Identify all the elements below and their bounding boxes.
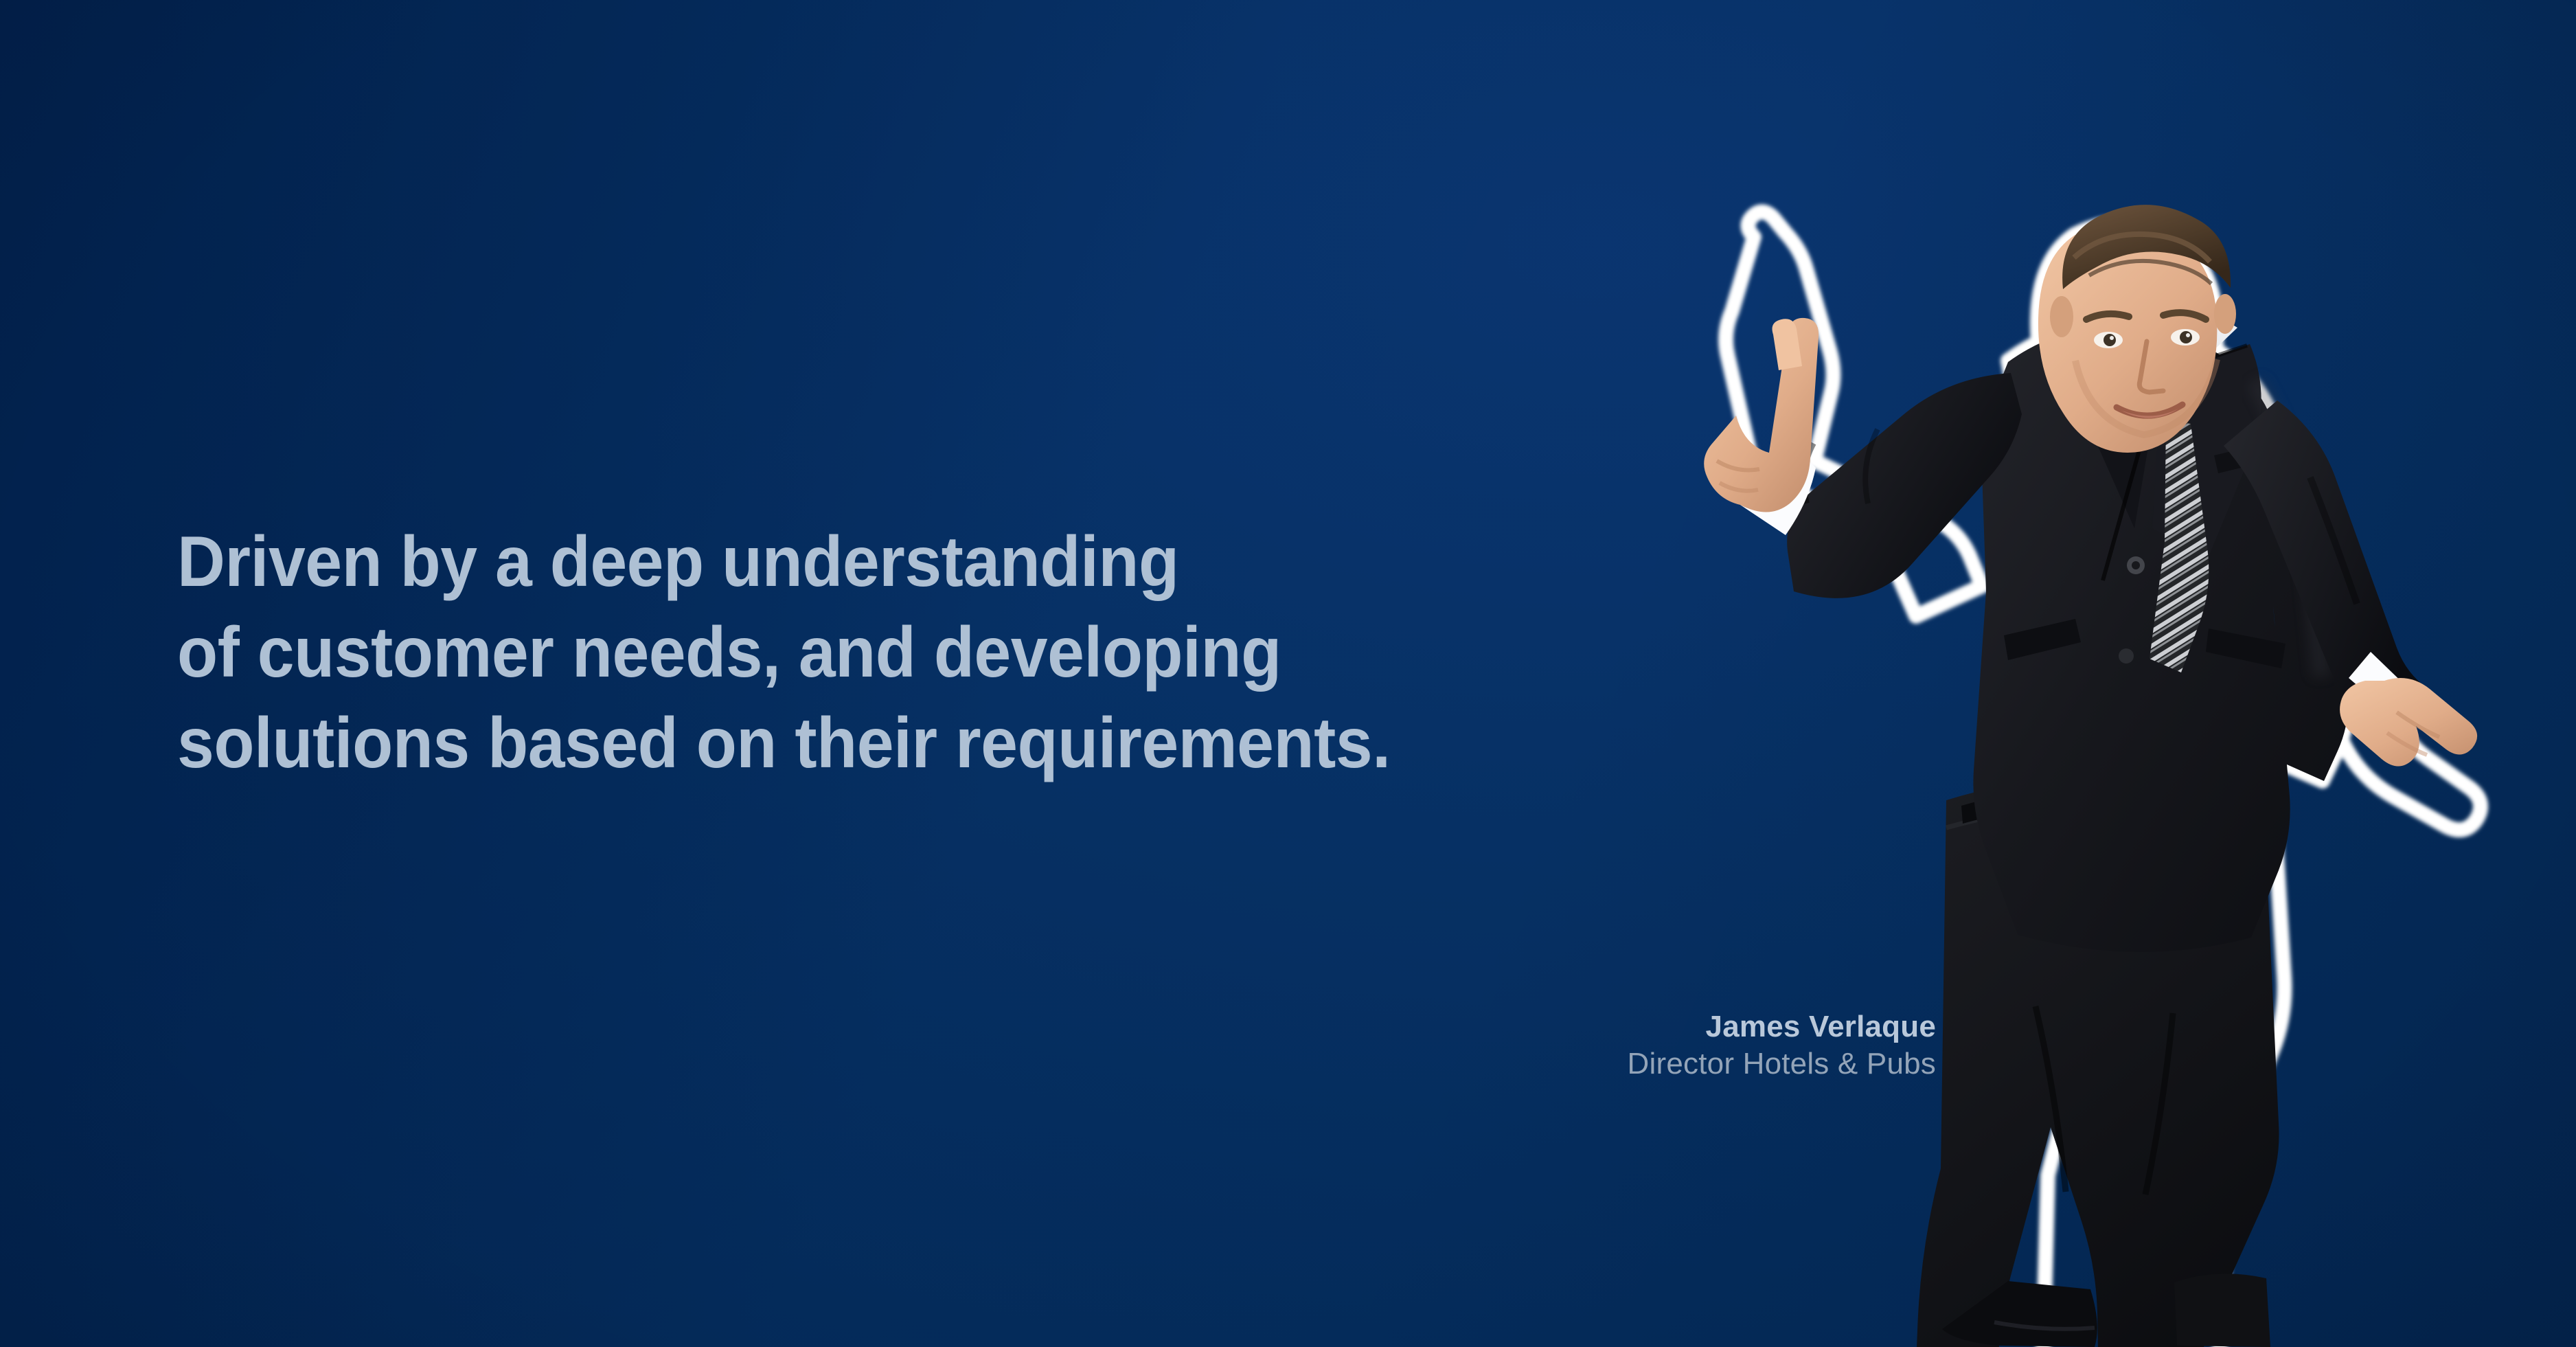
person-role: Director Hotels & Pubs <box>1112 1045 1936 1083</box>
quote-line-1: Driven by a deep understanding <box>177 517 1493 607</box>
attribution-block: James Verlaque Director Hotels & Pubs <box>1112 1008 1936 1083</box>
person-name: James Verlaque <box>1112 1008 1936 1045</box>
slide-canvas: Driven by a deep understanding of custom… <box>0 0 2576 1347</box>
quote-line-2: of customer needs, and developing <box>177 607 1493 698</box>
quote-line-3: solutions based on their requirements. <box>177 698 1493 789</box>
quote-text: Driven by a deep understanding of custom… <box>177 517 1592 789</box>
